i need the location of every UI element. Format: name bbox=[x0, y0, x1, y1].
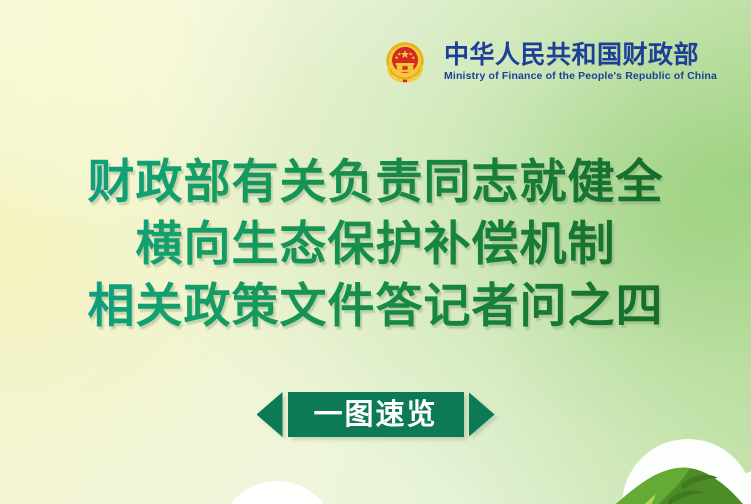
ministry-name-cn: 中华人民共和国财政部 bbox=[444, 42, 699, 68]
poster-canvas: 中华人民共和国财政部 Ministry of Finance of the Pe… bbox=[0, 0, 751, 504]
ministry-name-en: Ministry of Finance of the People's Repu… bbox=[444, 71, 717, 82]
ribbon-body: 一图速览 bbox=[287, 392, 463, 437]
quick-view-ribbon: 一图速览 bbox=[256, 392, 494, 437]
green-hill-icon bbox=[556, 448, 751, 504]
chevron-right-icon bbox=[469, 392, 495, 437]
chevron-left-icon bbox=[256, 392, 282, 437]
title-line-2: 横向生态保护补偿机制 bbox=[0, 214, 751, 276]
title-line-3: 相关政策文件答记者问之四 bbox=[0, 276, 751, 338]
ministry-text-block: 中华人民共和国财政部 Ministry of Finance of the Pe… bbox=[444, 42, 717, 82]
white-cloud-icon bbox=[218, 481, 336, 504]
ministry-logo-lockup: 中华人民共和国财政部 Ministry of Finance of the Pe… bbox=[379, 36, 717, 88]
ribbon-label: 一图速览 bbox=[313, 400, 437, 429]
page-title: 财政部有关负责同志就健全 横向生态保护补偿机制 相关政策文件答记者问之四 bbox=[0, 152, 751, 338]
title-line-1: 财政部有关负责同志就健全 bbox=[0, 152, 751, 214]
china-national-emblem-icon bbox=[379, 36, 431, 88]
